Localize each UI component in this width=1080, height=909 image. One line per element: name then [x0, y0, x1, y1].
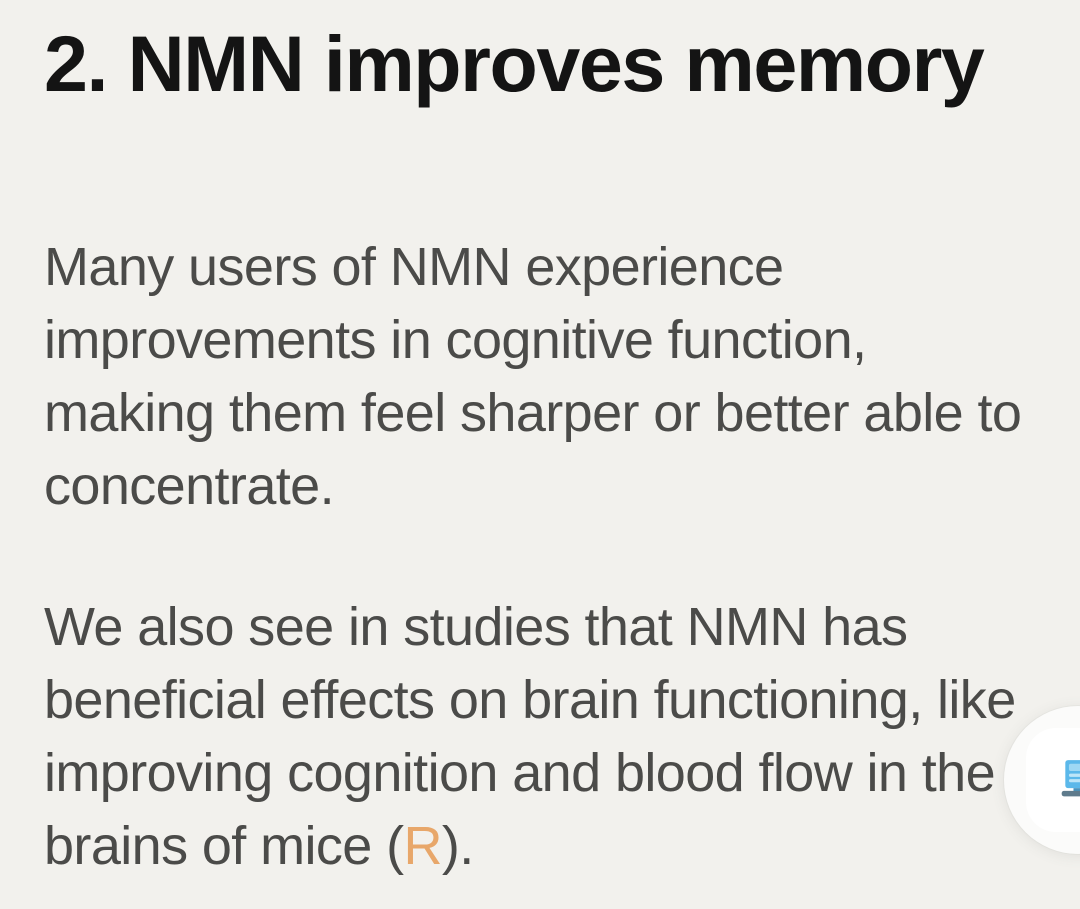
paragraph-text-tail: ).	[442, 816, 474, 876]
reference-link[interactable]: R	[404, 816, 442, 876]
paragraph-block-two: We also see in studies that NMN has bene…	[44, 591, 1029, 883]
desktop-monitor-icon	[1049, 751, 1080, 809]
paragraph-block-one: Many users of NMN experience improvement…	[44, 231, 1029, 523]
body-paragraph: Many users of NMN experience improvement…	[44, 231, 1029, 523]
article-content: 2. NMN improves memory Many users of NMN…	[44, 0, 1054, 909]
page-title: 2. NMN improves memory	[44, 24, 983, 103]
floating-widget-surface[interactable]	[1026, 728, 1080, 832]
paragraph-text-lead: We also see in studies that NMN has bene…	[44, 597, 1016, 876]
body-paragraph: We also see in studies that NMN has bene…	[44, 591, 1029, 883]
